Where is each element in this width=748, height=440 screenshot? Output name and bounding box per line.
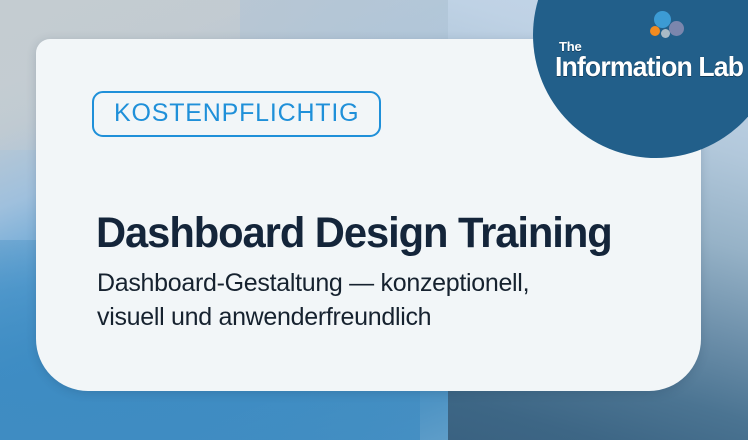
page-subtitle: Dashboard-Gestaltung — konzeptionell, vi… [97,266,697,334]
status-badge: KOSTENPFLICHTIG [92,91,381,137]
promo-banner: KOSTENPFLICHTIG Dashboard Design Trainin… [0,0,748,440]
brand-wordmark-name: Information Lab [555,53,748,82]
brand-dot-purple-icon [669,21,684,36]
brand-dot-orange-icon [650,26,660,36]
page-title: Dashboard Design Training [96,211,612,256]
page-subtitle-line-2: visuell und anwenderfreundlich [97,300,697,334]
brand-logo: The Information Lab [533,0,748,158]
status-badge-label: KOSTENPFLICHTIG [114,99,359,127]
brand-wordmark: The Information Lab [555,40,748,82]
page-subtitle-line-1: Dashboard-Gestaltung — konzeptionell, [97,266,697,300]
brand-dot-grey-icon [661,29,670,38]
brand-logo-circle: The Information Lab [533,0,748,158]
